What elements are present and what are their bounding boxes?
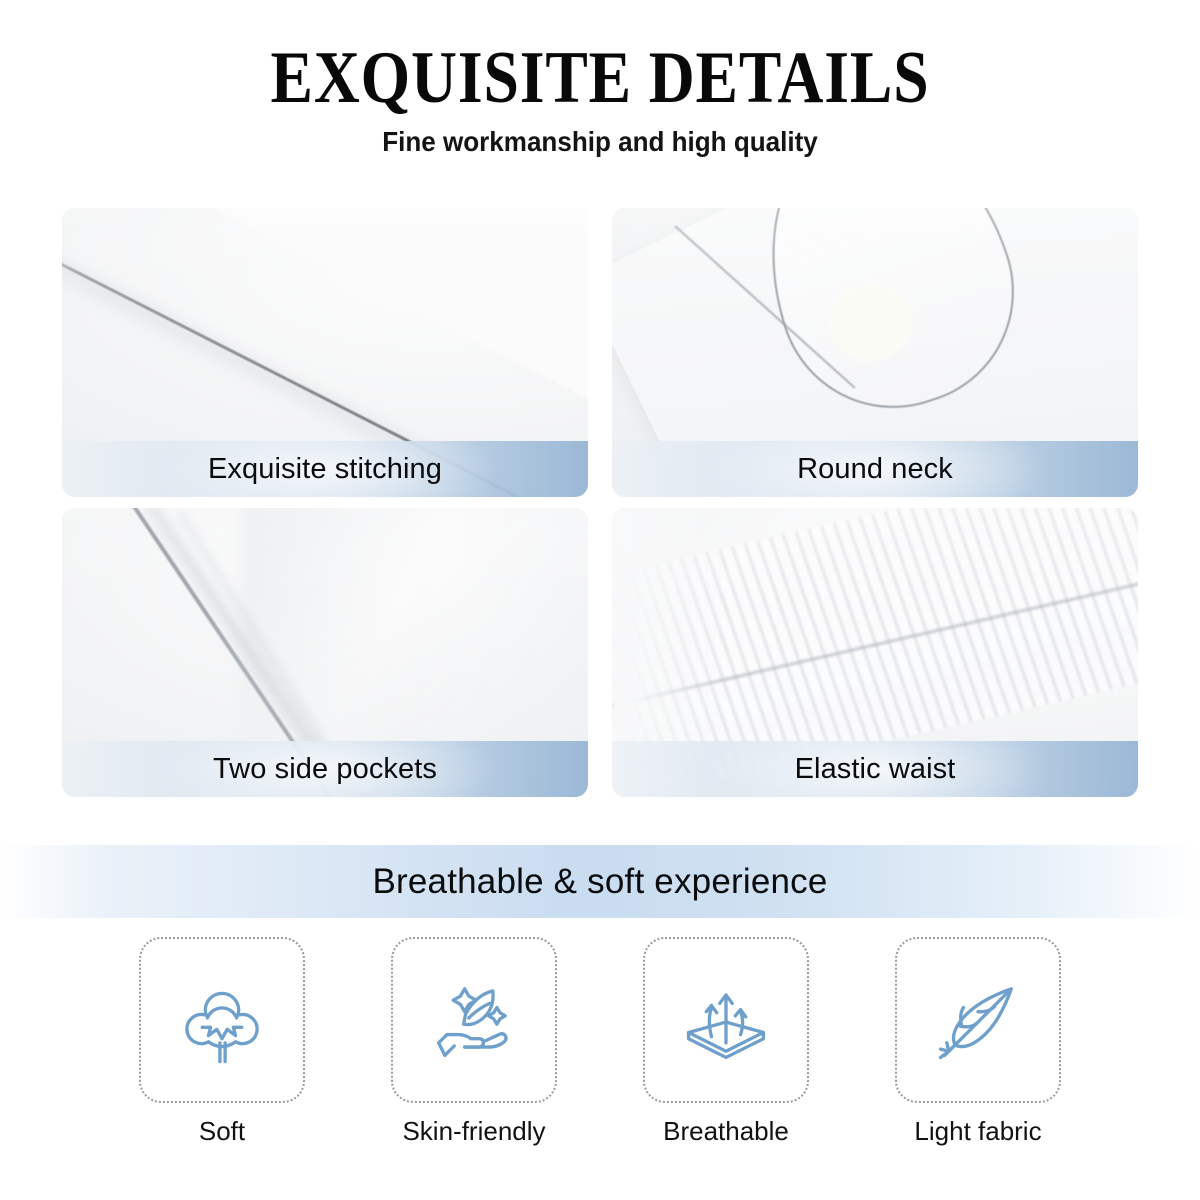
breathable-banner: Breathable & soft experience (0, 845, 1200, 918)
card-caption-bar: Round neck (612, 441, 1138, 497)
cotton-boll-icon (170, 968, 274, 1072)
feature-icon-box (643, 937, 809, 1103)
feature-icon-box (895, 937, 1061, 1103)
feature-light-fabric[interactable]: Light fabric (894, 937, 1062, 1147)
detail-card-exquisite-stitching[interactable]: Exquisite stitching (62, 208, 588, 497)
page-subtitle: Fine workmanship and high quality (42, 112, 1158, 158)
card-caption-bar: Elastic waist (612, 741, 1138, 797)
card-caption-label: Elastic waist (795, 753, 956, 786)
detail-card-elastic-waist[interactable]: Elastic waist (612, 508, 1138, 797)
card-caption-label: Two side pockets (213, 753, 437, 786)
card-caption-bar: Exquisite stitching (62, 441, 588, 497)
feature-icon-box (139, 937, 305, 1103)
feature-icon-box (391, 937, 557, 1103)
page-header: EXQUISITE DETAILS Fine workmanship and h… (0, 0, 1200, 158)
card-caption-label: Exquisite stitching (208, 453, 442, 486)
detail-card-two-side-pockets[interactable]: Two side pockets (62, 508, 588, 797)
feature-skin-friendly[interactable]: Skin-friendly (390, 937, 558, 1147)
feature-soft[interactable]: Soft (138, 937, 306, 1147)
fabric-layers-airflow-icon (674, 968, 778, 1072)
hand-with-feather-sparkle-icon (422, 968, 526, 1072)
feature-label: Light fabric (914, 1116, 1041, 1147)
feather-icon (926, 968, 1030, 1072)
feature-label: Skin-friendly (402, 1116, 545, 1147)
feature-breathable[interactable]: Breathable (642, 937, 810, 1147)
feature-label: Soft (199, 1116, 245, 1147)
banner-title: Breathable & soft experience (372, 862, 827, 902)
card-caption-bar: Two side pockets (62, 741, 588, 797)
feature-icon-row: Soft Skin-friendly (138, 937, 1062, 1147)
card-caption-label: Round neck (797, 453, 953, 486)
detail-cards-grid: Exquisite stitching Round neck (62, 208, 1138, 797)
detail-card-round-neck[interactable]: Round neck (612, 208, 1138, 497)
feature-label: Breathable (663, 1116, 789, 1147)
page-title: EXQUISITE DETAILS (84, 44, 1116, 112)
